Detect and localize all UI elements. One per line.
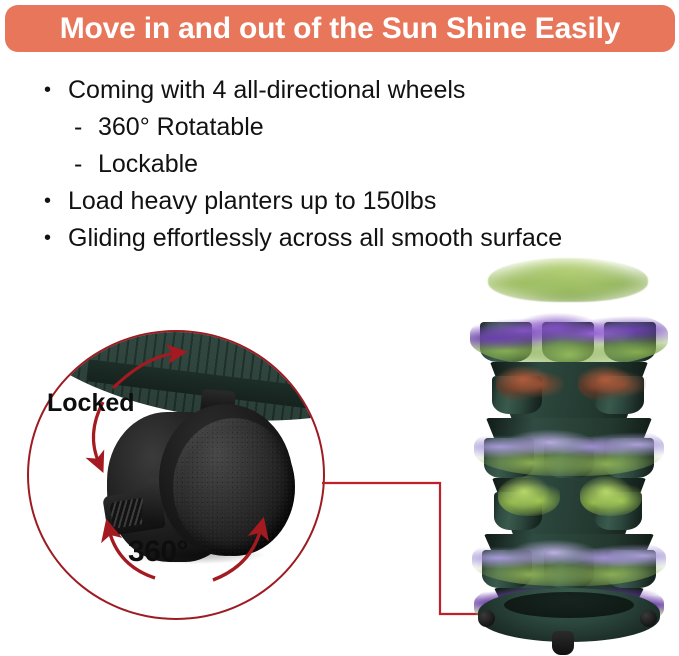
bullet-icon: • (44, 220, 68, 257)
list-item: - Lockable (44, 146, 674, 183)
list-item: - 360° Rotatable (44, 109, 674, 146)
planter-tray-inner (504, 592, 634, 618)
foliage-bronze (496, 362, 564, 402)
caster-wheel-front (552, 631, 574, 655)
caster-detail-callout-circle (27, 330, 325, 620)
list-item: • Coming with 4 all-directional wheels (44, 72, 674, 109)
feature-list: • Coming with 4 all-directional wheels -… (44, 72, 674, 257)
page-title: Move in and out of the Sun Shine Easily (60, 14, 621, 44)
foliage-lime (580, 476, 642, 516)
dash-icon: - (74, 146, 98, 183)
caster-wheel-right (640, 610, 657, 627)
foliage-bronze (578, 362, 646, 402)
list-item: • Load heavy planters up to 150lbs (44, 183, 674, 220)
list-item-label: Gliding effortlessly across all smooth s… (68, 220, 562, 257)
caster-wheel-near (173, 418, 295, 556)
header-banner: Move in and out of the Sun Shine Easily (5, 5, 675, 52)
locked-label: Locked (47, 390, 135, 416)
foliage-purple (470, 308, 668, 366)
foliage-lavender (472, 534, 666, 586)
list-item-label: 360° Rotatable (98, 109, 264, 146)
product-feature-infographic: Move in and out of the Sun Shine Easily … (0, 0, 679, 656)
list-item: • Gliding effortlessly across all smooth… (44, 220, 674, 257)
list-item-label: Coming with 4 all-directional wheels (68, 72, 465, 109)
caster-wheel-tread (173, 418, 295, 556)
caster-wheel-left (478, 610, 495, 627)
stacked-planter-tower (470, 258, 668, 656)
bullet-icon: • (44, 72, 68, 109)
bullet-icon: • (44, 183, 68, 220)
list-item-label: Lockable (98, 146, 198, 183)
list-item-label: Load heavy planters up to 150lbs (68, 183, 436, 220)
rotation-label: 360° (128, 536, 188, 568)
dash-icon: - (74, 109, 98, 146)
foliage-lime (498, 476, 560, 516)
foliage-lavender (474, 422, 664, 476)
